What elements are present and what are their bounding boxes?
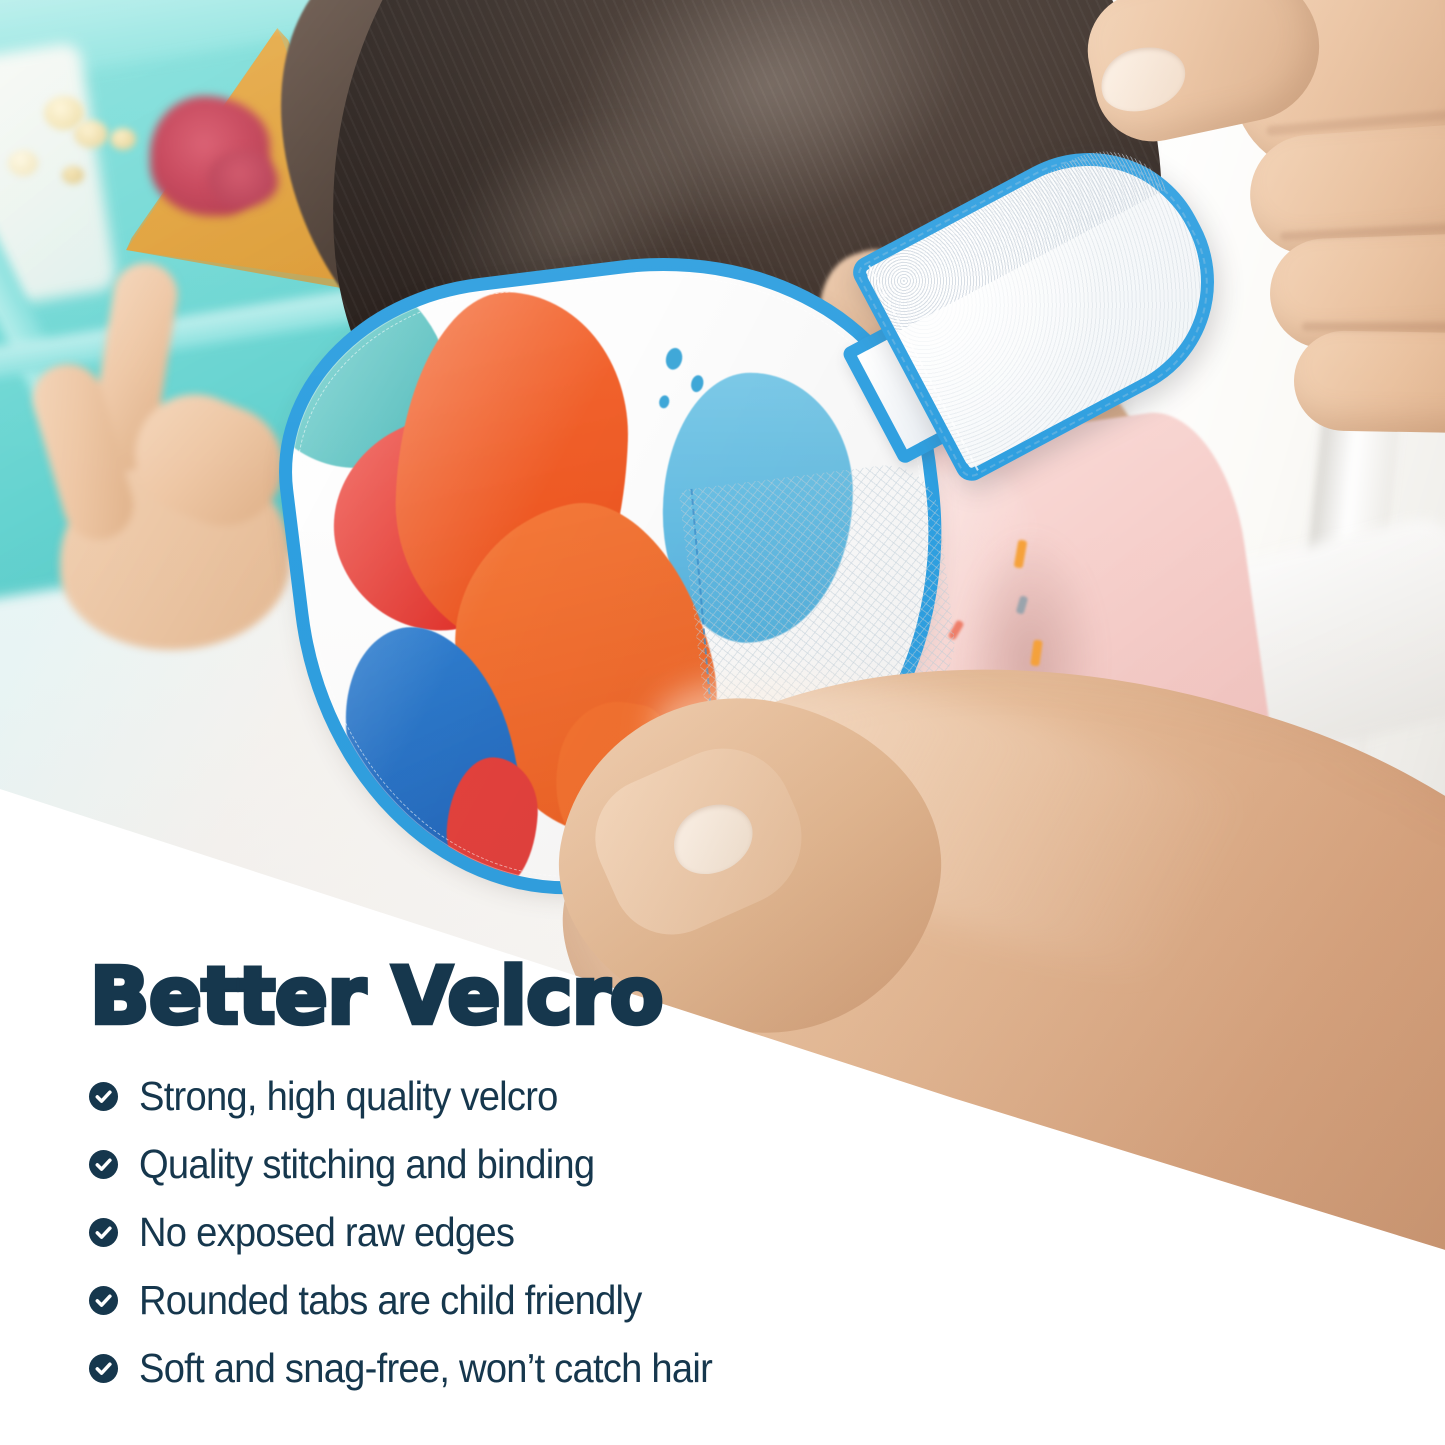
feature-copy-block: Better Velcro Strong, high quality velcr… <box>0 0 1445 1445</box>
check-circle-icon <box>88 1285 119 1316</box>
check-circle-icon <box>88 1217 119 1248</box>
list-item: Soft and snag-free, won’t catch hair <box>88 1334 755 1402</box>
list-item: Quality stitching and binding <box>88 1130 755 1198</box>
list-item: No exposed raw edges <box>88 1198 755 1266</box>
check-circle-icon <box>88 1081 119 1112</box>
feature-list: Strong, high quality velcro Quality stit… <box>88 1062 755 1402</box>
list-item-label: No exposed raw edges <box>139 1212 514 1253</box>
list-item: Rounded tabs are child friendly <box>88 1266 755 1334</box>
list-item-label: Quality stitching and binding <box>139 1144 594 1185</box>
check-circle-icon <box>88 1353 119 1384</box>
check-circle-icon <box>88 1149 119 1180</box>
product-feature-image: Better Velcro Strong, high quality velcr… <box>0 0 1445 1445</box>
list-item: Strong, high quality velcro <box>88 1062 755 1130</box>
list-item-label: Soft and snag-free, won’t catch hair <box>139 1348 712 1389</box>
list-item-label: Rounded tabs are child friendly <box>139 1280 642 1321</box>
page-title: Better Velcro <box>90 958 663 1036</box>
list-item-label: Strong, high quality velcro <box>139 1076 558 1117</box>
